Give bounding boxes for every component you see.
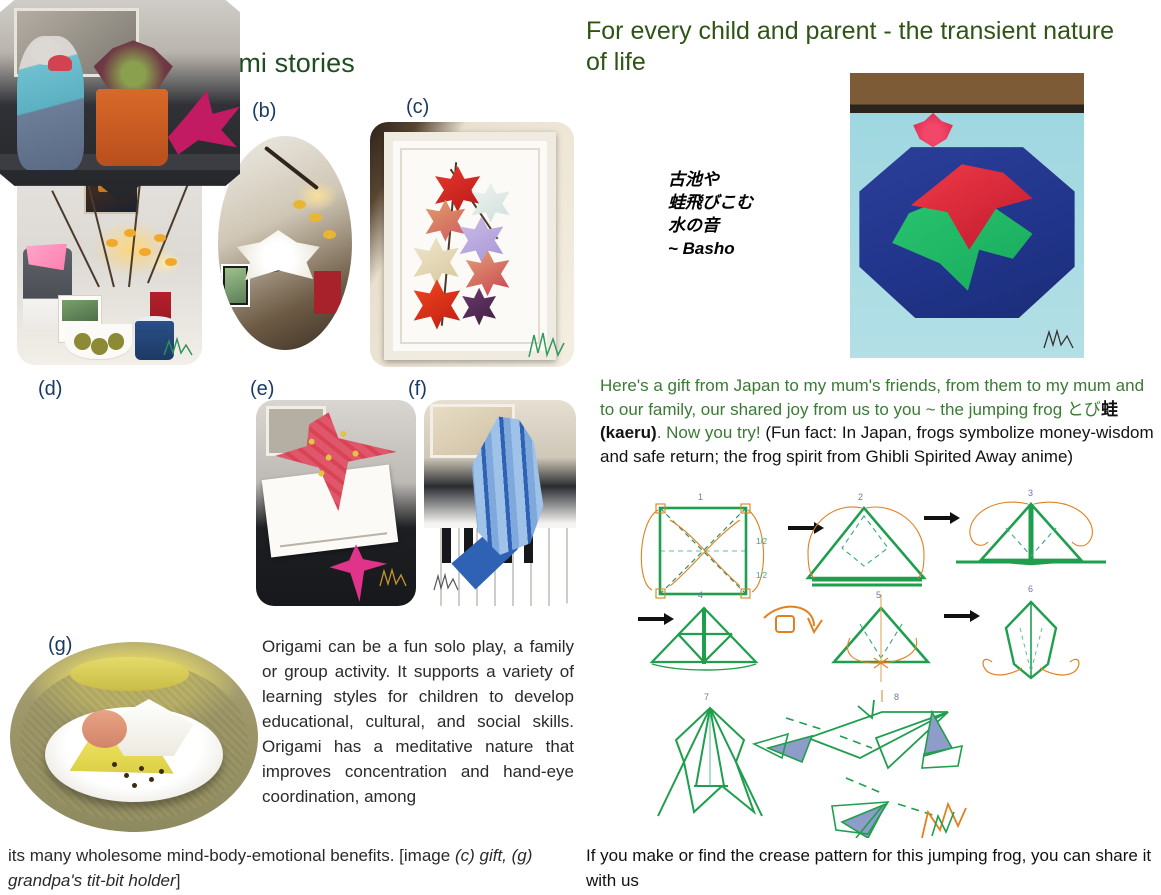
svg-text:6: 6 — [1028, 584, 1033, 594]
diagram-arrow-1-2 — [788, 522, 824, 534]
jumping-frog-crease-diagram: 1 1/2 1/2 2 3 — [636, 486, 1161, 838]
haiku-line-2: 蛙飛びこむ — [668, 191, 753, 214]
right-green-paragraph: Here's a gift from Japan to my mum's fri… — [600, 374, 1161, 468]
photo-frog-signature-icon — [1042, 326, 1076, 350]
photo-d-terracotta-pot — [96, 89, 168, 166]
photo-d-callout-succulent — [0, 0, 240, 202]
diagram-flip-arrow — [764, 607, 822, 632]
photo-b-picture-frame — [221, 264, 250, 307]
photo-jumping-frog-on-lilypad — [850, 73, 1084, 358]
svg-text:4: 4 — [698, 590, 703, 600]
diagram-arrow-2-3 — [924, 512, 960, 524]
haiku-line-1: 古池や — [668, 168, 753, 191]
photo-c-signature-icon — [526, 329, 568, 359]
haiku-line-3: 水の音 — [668, 214, 753, 237]
diagram-step-3 — [956, 504, 1106, 564]
svg-text:2: 2 — [858, 492, 863, 502]
diagram-arrow-5-6 — [944, 610, 980, 622]
photo-e-signature-icon — [378, 566, 408, 588]
right-heading: For every child and parent - the transie… — [586, 16, 1116, 78]
photo-b-red-box — [314, 271, 341, 314]
diagram-step-2-triangle — [808, 508, 924, 585]
svg-text:3: 3 — [1028, 488, 1033, 498]
diagram-arrow-3-4 — [638, 613, 674, 625]
left-footer-note: its many wholesome mind-body-emotional b… — [8, 843, 580, 893]
svg-text:1: 1 — [698, 492, 703, 502]
diagram-step-7 — [658, 708, 762, 816]
photo-e-crane-dots — [275, 412, 397, 511]
photo-c-framed-paper-flowers — [370, 122, 574, 367]
caption-d: (d) — [38, 378, 62, 401]
photo-b-origami-lily — [237, 230, 320, 286]
photo-f-blue-fan-on-piano — [424, 400, 576, 606]
diagram-step-1-square — [660, 508, 746, 594]
caption-b: (b) — [252, 100, 276, 123]
left-paragraph: Origami can be a fun solo play, a family… — [262, 634, 574, 809]
haiku-attribution: ~ Basho — [668, 237, 753, 260]
photo-d-pink-origami — [168, 85, 240, 158]
right-footer-note: If you make or find the crease pattern f… — [586, 843, 1160, 893]
left-footer-end: ] — [176, 871, 181, 890]
svg-text:8: 8 — [894, 692, 899, 702]
photo-a-signature-icon — [162, 333, 196, 359]
svg-text:7: 7 — [704, 692, 709, 702]
svg-text:5: 5 — [876, 590, 881, 600]
haiku-block: 古池や 蛙飛びこむ 水の音 ~ Basho — [668, 168, 753, 260]
diagram-step-8 — [754, 690, 966, 838]
photo-g-bananas — [70, 657, 189, 691]
photo-c-white-frame — [384, 132, 555, 360]
photo-g-paper-boats-on-plate — [10, 642, 258, 832]
green-text-part-2: . Now you try! — [657, 423, 766, 442]
caption-f: (f) — [408, 378, 427, 401]
photo-f-signature-icon — [432, 572, 460, 592]
diagram-step-6 — [1006, 602, 1056, 678]
caption-c: (c) — [406, 96, 429, 119]
caption-e: (e) — [250, 378, 274, 401]
slide-canvas: Some of our origami stories (a) (b) (c) … — [0, 0, 1161, 895]
green-text-part-1: Here's a gift from Japan to my mum's fri… — [600, 376, 1144, 419]
left-footer-plain: its many wholesome mind-body-emotional b… — [8, 846, 455, 865]
svg-text:1/2: 1/2 — [756, 571, 768, 580]
photo-e-card-and-cranes — [256, 400, 416, 606]
svg-text:1/2: 1/2 — [756, 537, 768, 546]
photo-g-macaron — [82, 710, 127, 748]
